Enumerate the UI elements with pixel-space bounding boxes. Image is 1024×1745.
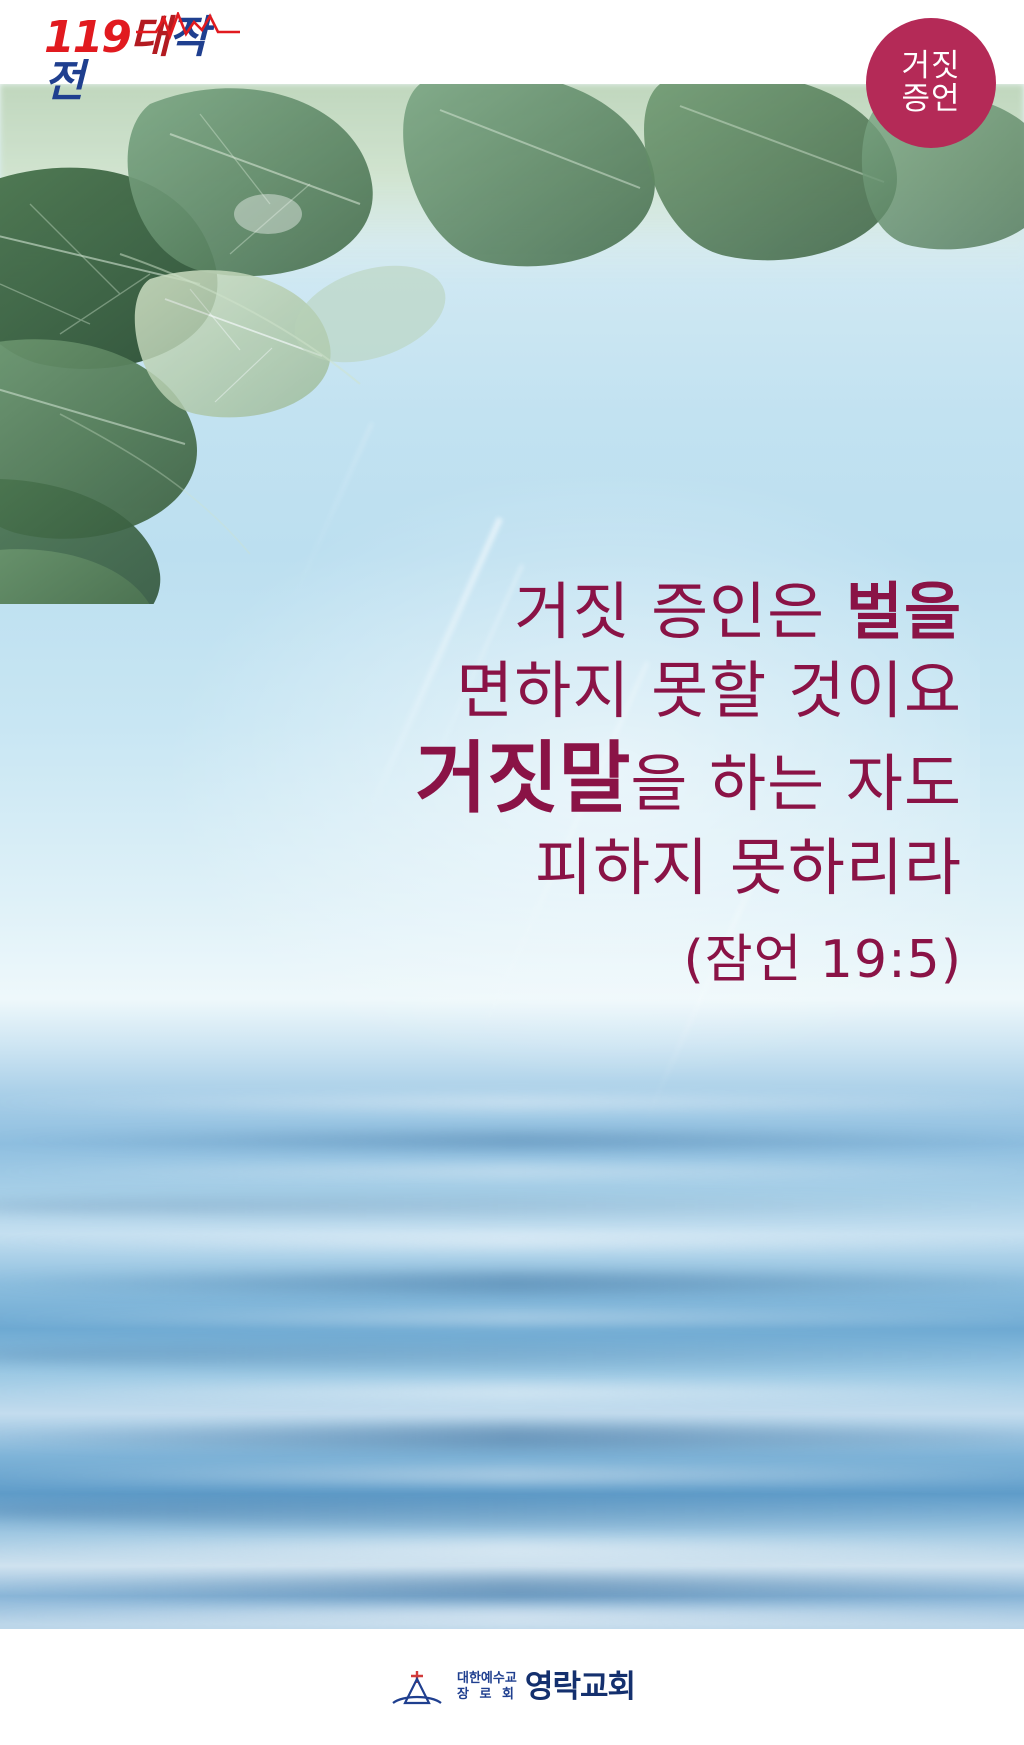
denomination-line-1: 대한예수교 [457,1671,517,1687]
verse-line-3: 거짓말을 하는 자도 [242,733,962,825]
leaf-overlay [0,84,1024,604]
verse-line-2: 면하지 못할 것이요 [242,654,962,727]
badge-line-2: 증언 [901,83,960,116]
verse-line-1-plain: 거짓 증인은 [514,575,846,648]
footer: 대한예수교 장 로 회 영락교회 [0,1629,1024,1745]
topic-badge[interactable]: 거짓 증언 [866,18,996,148]
denomination-line-2: 장 로 회 [457,1687,517,1703]
verse-line-3-plain: 을 하는 자도 [630,747,962,820]
verse-line-1-emphasis: 벌을 [846,575,962,648]
ripple-band [0,1342,1024,1368]
church-wordmark: 대한예수교 장 로 회 영락교회 [457,1671,635,1704]
denomination: 대한예수교 장 로 회 [457,1671,517,1704]
ripple-band [0,1272,1024,1294]
ripple-band [0,1166,1024,1177]
ripple-band [0,1384,1024,1400]
verse-reference: (잠언 19:5) [242,917,962,992]
ripple-band [0,1608,1024,1624]
verse-line-3-emphasis: 거짓말 [415,734,630,824]
ripple-band [0,1424,1024,1450]
badge-line-1: 거짓 [901,50,960,83]
ripple-band [0,1496,1024,1526]
ripple-band [0,1540,1024,1558]
logo-119-daejakjeon[interactable]: 119대작전 [44,16,234,72]
ripple-band [0,1576,1024,1602]
ripple-band [0,1132,1024,1149]
poster: 119대작전 거짓 증언 거짓 증인은 벌을 면하지 못할 것이요 거짓말을 하… [0,0,1024,1745]
ripple-band [0,1096,1024,1109]
verse-line-1: 거짓 증인은 벌을 [242,575,962,648]
heartbeat-icon [136,12,240,40]
ripple-band [0,1312,1024,1324]
ripple-band [0,1196,1024,1216]
leaves-illustration [0,84,1024,604]
church-name: 영락교회 [525,1672,635,1703]
verse-block: 거짓 증인은 벌을 면하지 못할 것이요 거짓말을 하는 자도 피하지 못하리라… [242,575,962,992]
ripple-band [0,1468,1024,1483]
verse-line-4: 피하지 못하리라 [242,831,962,904]
ripple-band [0,1234,1024,1248]
church-steeple-icon [389,1667,445,1707]
